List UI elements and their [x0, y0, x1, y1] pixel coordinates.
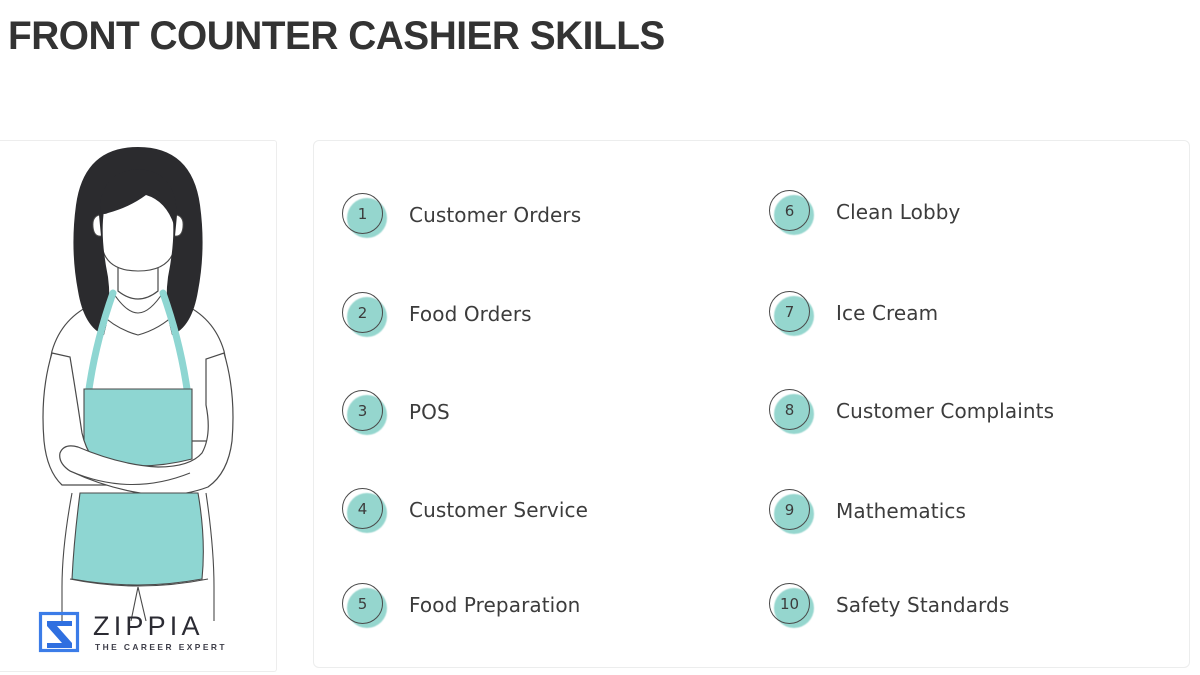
brand-logo: ZIPPIA THE CAREER EXPERT [36, 609, 227, 655]
skills-panel: 1 Customer Orders 2 Food Orders 3 POS [313, 140, 1190, 668]
skill-item-3: 3 POS [339, 386, 739, 438]
skill-badge-5: 5 [339, 579, 391, 631]
skill-label: Customer Service [409, 498, 588, 522]
infographic-page: FRONT COUNTER CASHIER SKILLS [0, 0, 1200, 675]
skill-number: 5 [342, 583, 383, 624]
page-title: FRONT COUNTER CASHIER SKILLS [8, 14, 665, 59]
zippia-z-logo-icon [36, 609, 82, 655]
skill-number: 2 [342, 292, 383, 333]
skill-label: Food Orders [409, 302, 532, 326]
skill-badge-10: 10 [766, 579, 818, 631]
brand-wordmark: ZIPPIA THE CAREER EXPERT [93, 612, 227, 652]
skill-item-10: 10 Safety Standards [766, 579, 1166, 631]
skill-badge-7: 7 [766, 287, 818, 339]
skill-item-7: 7 Ice Cream [766, 287, 1166, 339]
skill-number: 8 [769, 389, 810, 430]
skill-item-8: 8 Customer Complaints [766, 385, 1166, 437]
skill-label: Mathematics [836, 499, 966, 523]
skill-item-4: 4 Customer Service [339, 484, 739, 536]
skill-badge-2: 2 [339, 288, 391, 340]
skill-badge-1: 1 [339, 189, 391, 241]
skill-item-6: 6 Clean Lobby [766, 186, 1166, 238]
skill-label: Food Preparation [409, 593, 580, 617]
skill-badge-3: 3 [339, 386, 391, 438]
skill-label: Clean Lobby [836, 200, 960, 224]
skill-number: 6 [769, 190, 810, 231]
skill-badge-9: 9 [766, 485, 818, 537]
skill-number: 10 [769, 583, 810, 624]
skill-label: Customer Orders [409, 203, 581, 227]
skill-item-1: 1 Customer Orders [339, 189, 739, 241]
skill-badge-4: 4 [339, 484, 391, 536]
skill-badge-8: 8 [766, 385, 818, 437]
cashier-illustration [0, 141, 277, 621]
skill-label: Customer Complaints [836, 399, 1054, 423]
skill-label: Safety Standards [836, 593, 1009, 617]
skills-grid: 1 Customer Orders 2 Food Orders 3 POS [314, 141, 1189, 667]
skill-number: 9 [769, 489, 810, 530]
skill-badge-6: 6 [766, 186, 818, 238]
skill-label: POS [409, 400, 450, 424]
skill-number: 4 [342, 488, 383, 529]
skill-number: 1 [342, 193, 383, 234]
skill-item-9: 9 Mathematics [766, 485, 1166, 537]
brand-name: ZIPPIA [93, 612, 227, 640]
illustration-panel: ZIPPIA THE CAREER EXPERT [0, 140, 277, 672]
skill-label: Ice Cream [836, 301, 938, 325]
skill-item-5: 5 Food Preparation [339, 579, 739, 631]
skill-item-2: 2 Food Orders [339, 288, 739, 340]
skill-number: 3 [342, 390, 383, 431]
brand-tagline: THE CAREER EXPERT [95, 642, 227, 652]
skill-number: 7 [769, 291, 810, 332]
